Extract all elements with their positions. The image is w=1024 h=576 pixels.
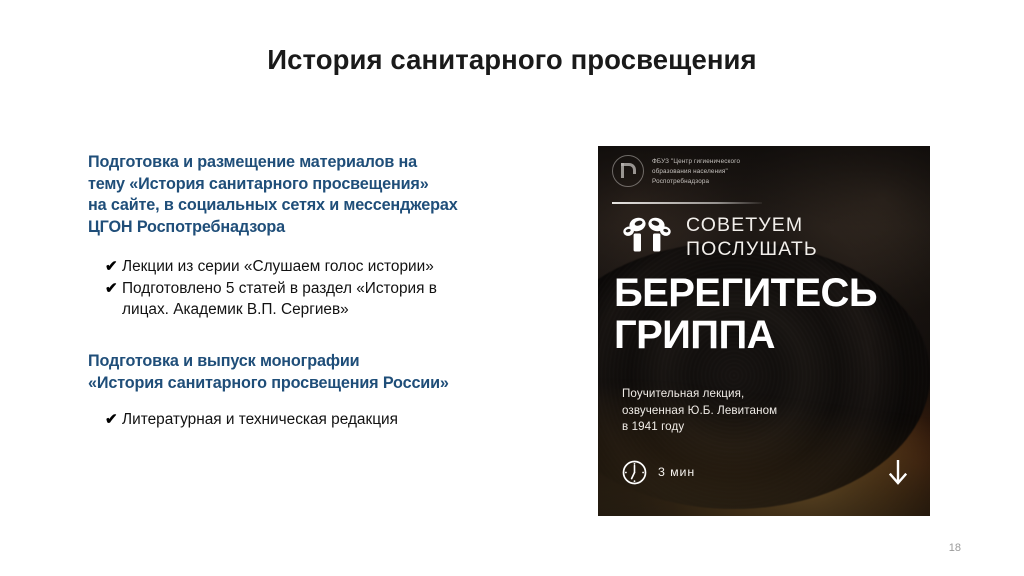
- poster-footer: 3 мин: [622, 458, 908, 486]
- list-item-label: Лекции из серии «Слушаем голос истории»: [122, 257, 558, 278]
- section-heading-1: Подготовка и размещение материалов на те…: [88, 152, 558, 238]
- list-item: ✔ Литературная и техническая редакция: [105, 410, 558, 431]
- earbuds-icon: [620, 215, 674, 261]
- poster-divider: [612, 202, 762, 204]
- check-icon: ✔: [105, 410, 120, 431]
- bullet-list-1: ✔ Лекции из серии «Слушаем голос истории…: [105, 257, 558, 321]
- check-icon: ✔: [105, 257, 120, 278]
- poster-duration-label: 3 мин: [658, 465, 695, 479]
- poster-duration-block: 3 мин: [622, 460, 695, 485]
- poster-content: ФБУЗ "Центр гигиенического образования н…: [598, 146, 930, 516]
- slide-root: История санитарного просвещения Подготов…: [0, 0, 1024, 576]
- left-content-column: Подготовка и размещение материалов на те…: [88, 152, 558, 432]
- poster-advise-label: СОВЕТУЕМ ПОСЛУШАТЬ: [686, 214, 818, 262]
- poster-logo-label: ФБУЗ "Центр гигиенического образования н…: [652, 155, 740, 186]
- page-number: 18: [949, 542, 961, 554]
- bullet-list-2: ✔ Литературная и техническая редакция: [105, 410, 558, 431]
- poster-image-card: ФБУЗ "Центр гигиенического образования н…: [598, 146, 930, 516]
- arrow-down-icon: [888, 458, 908, 486]
- poster-logo-block: ФБУЗ "Центр гигиенического образования н…: [612, 155, 740, 187]
- cgon-logo-icon: [612, 155, 644, 187]
- list-item: ✔ Лекции из серии «Слушаем голос истории…: [105, 257, 558, 278]
- check-icon: ✔: [105, 279, 120, 300]
- list-item: ✔ Подготовлено 5 статей в раздел «Истори…: [105, 279, 558, 321]
- section-heading-2: Подготовка и выпуск монографии «История …: [88, 351, 558, 394]
- clock-icon: [622, 460, 647, 485]
- page-title: История санитарного просвещения: [0, 44, 1024, 76]
- poster-headline: БЕРЕГИТЕСЬ ГРИППА: [614, 272, 877, 357]
- poster-advise-block: СОВЕТУЕМ ПОСЛУШАТЬ: [620, 214, 818, 262]
- poster-description: Поучительная лекция, озвученная Ю.Б. Лев…: [622, 386, 777, 436]
- list-item-label: Литературная и техническая редакция: [122, 410, 558, 431]
- list-item-label: Подготовлено 5 статей в раздел «История …: [122, 279, 558, 321]
